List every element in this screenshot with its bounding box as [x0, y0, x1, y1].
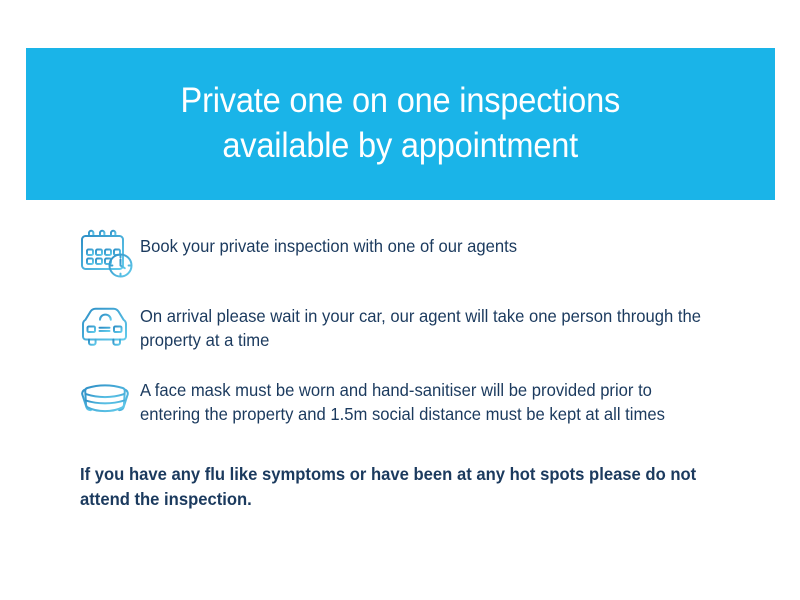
instruction-list: Book your private inspection with one of… — [0, 228, 800, 450]
list-item: A face mask must be worn and hand-saniti… — [0, 376, 800, 428]
footer-warning-note: If you have any flu like symptoms or hav… — [80, 462, 707, 513]
banner-title-line-1: Private one on one inspections — [181, 79, 621, 124]
calendar-clock-icon — [78, 228, 140, 280]
list-item: Book your private inspection with one of… — [0, 228, 800, 280]
header-banner: Private one on one inspections available… — [26, 48, 775, 200]
list-item-text: Book your private inspection with one of… — [140, 228, 767, 258]
face-mask-icon — [78, 376, 140, 428]
banner-title-line-2: available by appointment — [223, 124, 579, 169]
list-item-text: On arrival please wait in your car, our … — [140, 302, 767, 352]
list-item: On arrival please wait in your car, our … — [0, 302, 800, 354]
list-item-text: A face mask must be worn and hand-saniti… — [140, 376, 767, 426]
car-front-icon — [78, 302, 140, 354]
poster-root: Private one on one inspections available… — [0, 0, 800, 600]
